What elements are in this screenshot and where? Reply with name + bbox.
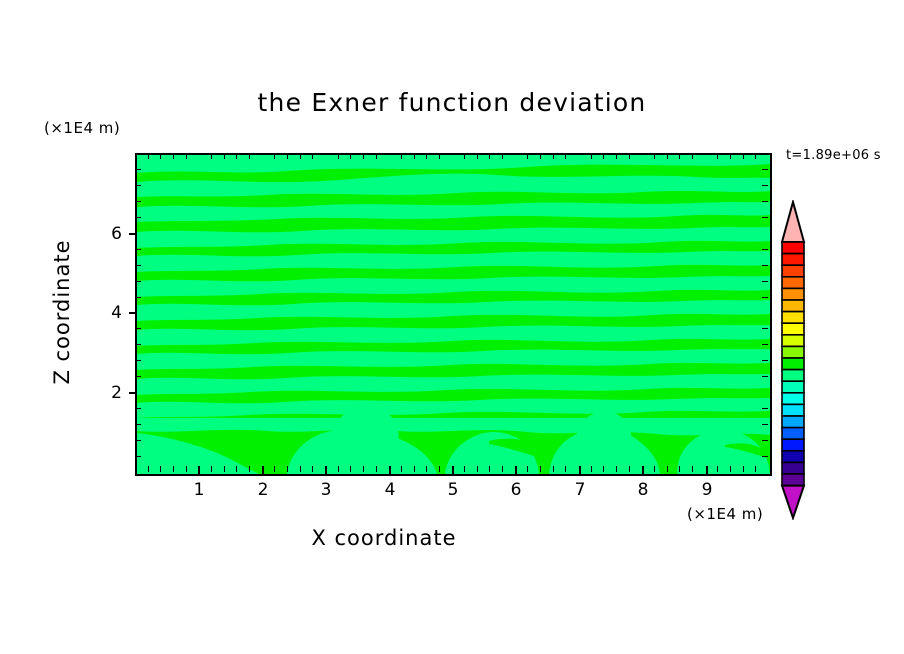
x-minor-tick-top (211, 153, 212, 159)
x-minor-tick-top (730, 153, 731, 159)
x-tick-label-9: 9 (687, 480, 727, 500)
x-minor-tick (274, 466, 275, 472)
y-minor-tick (135, 328, 141, 329)
contour-plot-area (135, 153, 772, 476)
x-minor-tick (477, 466, 478, 472)
x-minor-tick-top (414, 153, 415, 159)
x-minor-tick-top (692, 153, 693, 159)
x-minor-tick (502, 466, 503, 472)
y-minor-tick-right (762, 185, 768, 186)
y-minor-tick (135, 265, 141, 266)
timestamp-label: t=1.89e+06 s (786, 148, 881, 163)
x-minor-tick (338, 466, 339, 472)
x-minor-tick (730, 466, 731, 472)
x-minor-tick-top (464, 153, 465, 159)
x-minor-tick-top (477, 153, 478, 159)
y-minor-tick (135, 169, 141, 170)
y-minor-tick (135, 297, 141, 298)
y-minor-tick-right (762, 281, 768, 282)
y-minor-tick (135, 408, 141, 409)
x-minor-tick (743, 466, 744, 472)
x-tick-3 (325, 466, 327, 474)
x-minor-tick (287, 466, 288, 472)
x-minor-tick-top (502, 153, 503, 159)
x-minor-tick-top (654, 153, 655, 159)
x-tick-7 (579, 466, 581, 474)
x-minor-tick (148, 466, 149, 472)
x-tick-5 (452, 466, 454, 474)
x-tick-label-8: 8 (623, 480, 663, 500)
x-minor-tick (160, 466, 161, 472)
x-minor-tick (300, 466, 301, 472)
y-axis-units-label: (×1E4 m) (44, 119, 120, 137)
y-minor-tick (135, 217, 141, 218)
x-minor-tick-top (439, 153, 440, 159)
x-minor-tick (236, 466, 237, 472)
x-tick-8 (642, 466, 644, 474)
colorbar-gradient (778, 200, 808, 520)
y-tick-label-6: 6 (82, 224, 122, 244)
x-minor-tick-top (489, 153, 490, 159)
y-minor-tick-right (762, 201, 768, 202)
y-minor-tick (135, 201, 141, 202)
y-minor-tick (135, 185, 141, 186)
figure-canvas: the Exner function deviation (×1E4 m) t=… (0, 0, 904, 654)
y-minor-tick-right (762, 297, 768, 298)
x-minor-tick (464, 466, 465, 472)
y-minor-tick (135, 376, 141, 377)
x-minor-tick (667, 466, 668, 472)
y-tick-label-2: 2 (82, 383, 122, 403)
y-minor-tick (135, 281, 141, 282)
y-minor-tick-right (762, 328, 768, 329)
x-minor-tick (679, 466, 680, 472)
x-tick-label-4: 4 (370, 480, 410, 500)
x-tick-label-7: 7 (560, 480, 600, 500)
x-minor-tick-top (679, 153, 680, 159)
x-minor-tick (692, 466, 693, 472)
y-minor-tick (135, 249, 141, 250)
x-minor-tick-top (160, 153, 161, 159)
x-minor-tick (527, 466, 528, 472)
x-minor-tick (439, 466, 440, 472)
x-minor-tick-top (338, 153, 339, 159)
x-minor-tick-top (426, 153, 427, 159)
x-minor-tick-top (350, 153, 351, 159)
y-minor-tick-right (762, 265, 768, 266)
x-minor-tick (350, 466, 351, 472)
y-tick-label-4: 4 (82, 303, 122, 323)
y-tick-4 (129, 312, 137, 314)
x-minor-tick-top (603, 153, 604, 159)
x-minor-tick-top (186, 153, 187, 159)
x-minor-tick-top (236, 153, 237, 159)
y-minor-tick-right (762, 440, 768, 441)
y-minor-tick-right (762, 376, 768, 377)
y-minor-tick (135, 424, 141, 425)
x-minor-tick-top (717, 153, 718, 159)
x-minor-tick (312, 466, 313, 472)
x-tick-label-2: 2 (243, 480, 283, 500)
y-minor-tick (135, 344, 141, 345)
x-minor-tick-top (249, 153, 250, 159)
y-minor-tick-right (762, 169, 768, 170)
x-tick-2 (262, 466, 264, 474)
x-tick-label-5: 5 (433, 480, 473, 500)
x-minor-tick-top (224, 153, 225, 159)
x-minor-tick-top (743, 153, 744, 159)
x-minor-tick (717, 466, 718, 472)
x-minor-tick-top (312, 153, 313, 159)
x-minor-tick-top (616, 153, 617, 159)
y-minor-tick (135, 456, 141, 457)
x-minor-tick (173, 466, 174, 472)
x-minor-tick-top (401, 153, 402, 159)
x-minor-tick-top (287, 153, 288, 159)
x-axis-units-label: (×1E4 m) (687, 505, 763, 523)
x-tick-label-6: 6 (496, 480, 536, 500)
x-minor-tick (186, 466, 187, 472)
x-minor-tick (591, 466, 592, 472)
y-minor-tick-right (762, 217, 768, 218)
x-minor-tick-top (553, 153, 554, 159)
colorbar: 9e−4 6e−4 3e−4 0 −3e−4 −6e−4 −9e−4 (778, 200, 808, 520)
x-minor-tick (426, 466, 427, 472)
x-minor-tick-top (591, 153, 592, 159)
x-minor-tick (211, 466, 212, 472)
x-minor-tick (654, 466, 655, 472)
y-minor-tick-right (762, 424, 768, 425)
y-minor-tick-right (762, 456, 768, 457)
x-minor-tick-top (300, 153, 301, 159)
x-minor-tick-top (376, 153, 377, 159)
x-minor-tick-top (527, 153, 528, 159)
x-minor-tick-top (148, 153, 149, 159)
x-minor-tick (249, 466, 250, 472)
x-minor-tick (603, 466, 604, 472)
x-minor-tick (616, 466, 617, 472)
x-minor-tick-top (274, 153, 275, 159)
x-minor-tick (363, 466, 364, 472)
y-minor-tick-right (762, 408, 768, 409)
x-minor-tick (553, 466, 554, 472)
x-tick-label-1: 1 (179, 480, 219, 500)
figure-title: the Exner function deviation (0, 88, 904, 117)
y-minor-tick (135, 360, 141, 361)
x-minor-tick (629, 466, 630, 472)
x-minor-tick-top (363, 153, 364, 159)
x-minor-tick-top (755, 153, 756, 159)
y-minor-tick (135, 440, 141, 441)
y-minor-tick-right (762, 249, 768, 250)
x-minor-tick (376, 466, 377, 472)
y-axis-label: Z coordinate (50, 212, 74, 412)
x-tick-1 (198, 466, 200, 474)
x-minor-tick-top (540, 153, 541, 159)
x-minor-tick (489, 466, 490, 472)
x-tick-6 (515, 466, 517, 474)
x-tick-9 (706, 466, 708, 474)
x-minor-tick (755, 466, 756, 472)
y-tick-6 (129, 233, 137, 235)
contour-field (137, 155, 770, 474)
x-minor-tick-top (565, 153, 566, 159)
x-minor-tick-top (173, 153, 174, 159)
x-minor-tick (224, 466, 225, 472)
y-minor-tick-right (762, 360, 768, 361)
x-tick-4 (389, 466, 391, 474)
x-minor-tick (401, 466, 402, 472)
x-minor-tick-top (629, 153, 630, 159)
y-minor-tick-right (762, 344, 768, 345)
x-tick-label-3: 3 (306, 480, 346, 500)
x-minor-tick (540, 466, 541, 472)
x-minor-tick (565, 466, 566, 472)
x-minor-tick-top (667, 153, 668, 159)
x-minor-tick (414, 466, 415, 472)
y-tick-2 (129, 392, 137, 394)
x-axis-label: X coordinate (0, 526, 768, 550)
